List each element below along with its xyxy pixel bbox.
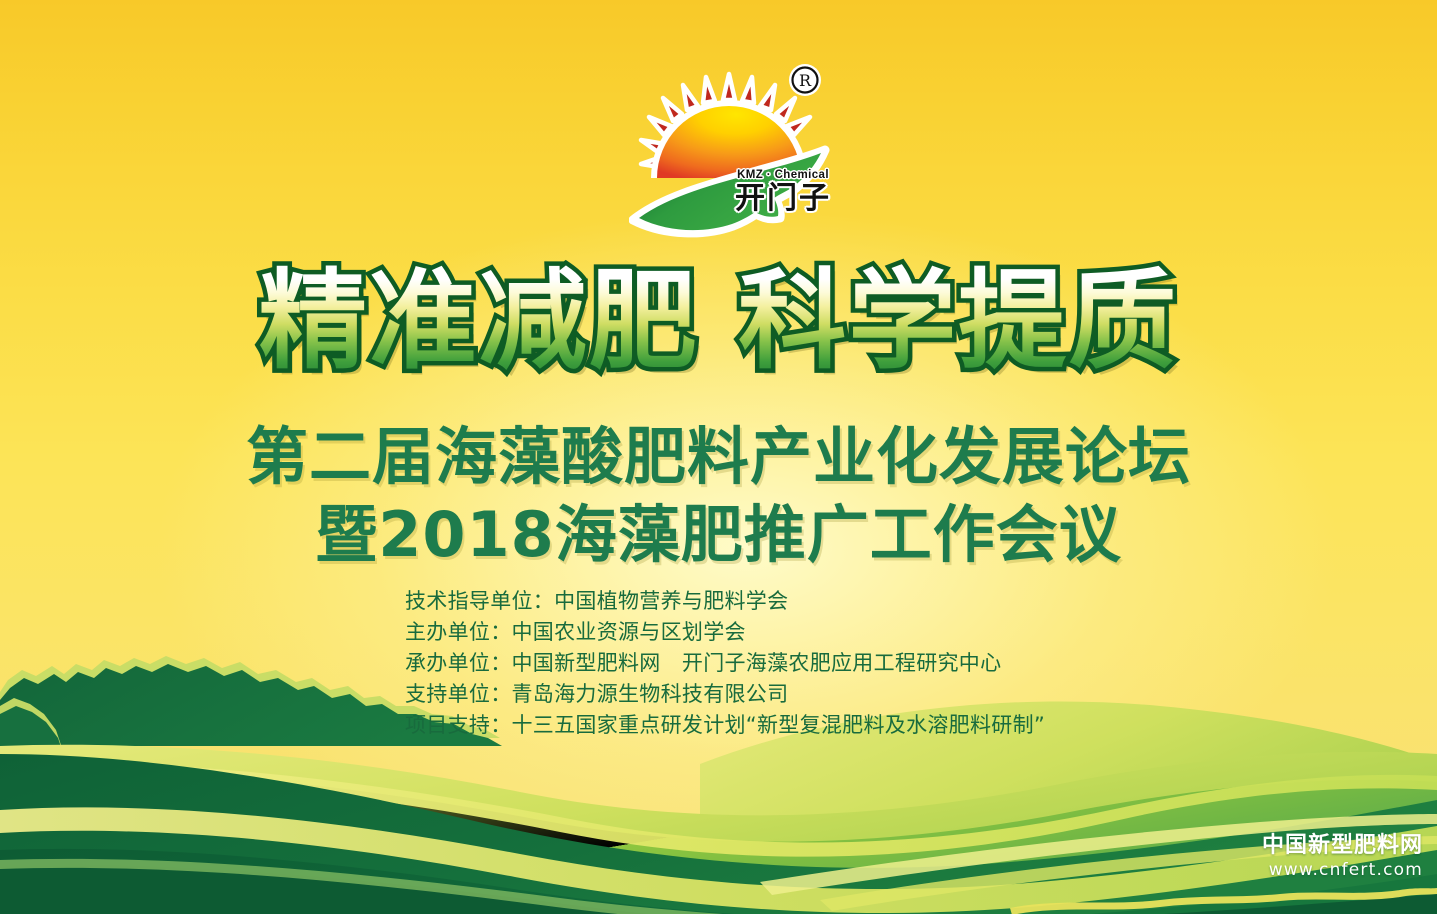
site-watermark: 中国新型肥料网 www.cnfert.com xyxy=(1262,834,1423,880)
kaimenzi-logo: R KMZ · Chemical 开门子 xyxy=(629,60,834,245)
subtitle-line-1: 第二届海藻酸肥料产业化发展论坛 xyxy=(0,406,1437,496)
svg-text:R: R xyxy=(799,71,812,90)
logo-latin-text: KMZ · Chemical xyxy=(733,170,833,182)
conference-poster: R KMZ · Chemical 开门子 精准减肥 科学提质 精准减肥 科学提质… xyxy=(0,0,1437,914)
registered-trademark-icon: R xyxy=(789,64,821,96)
watermark-site-name: 中国新型肥料网 xyxy=(1262,834,1423,859)
organizer-info-block: 技术指导单位：中国植物营养与肥料学会 主办单位：中国农业资源与区划学会 承办单位… xyxy=(405,586,1045,741)
headline-fill-layer: 精准减肥 科学提质 xyxy=(259,259,1179,384)
info-line-technical-guidance: 技术指导单位：中国植物营养与肥料学会 xyxy=(405,586,1045,617)
logo-wordmark: KMZ · Chemical 开门子 xyxy=(733,170,833,214)
info-line-supporter: 支持单位：青岛海力源生物科技有限公司 xyxy=(405,679,1045,710)
watermark-url: www.cnfert.com xyxy=(1262,861,1423,880)
info-line-host: 主办单位：中国农业资源与区划学会 xyxy=(405,617,1045,648)
info-line-project-support: 项目支持：十三五国家重点研发计划“新型复混肥料及水溶肥料研制” xyxy=(405,710,1045,741)
logo-chinese-text: 开门子 xyxy=(733,184,833,214)
info-line-organizer: 承办单位：中国新型肥料网 开门子海藻农肥应用工程研究中心 xyxy=(405,648,1045,679)
poster-headline: 精准减肥 科学提质 精准减肥 科学提质 xyxy=(0,268,1437,376)
subtitle-line-2: 暨2018海藻肥推广工作会议 xyxy=(0,484,1437,574)
